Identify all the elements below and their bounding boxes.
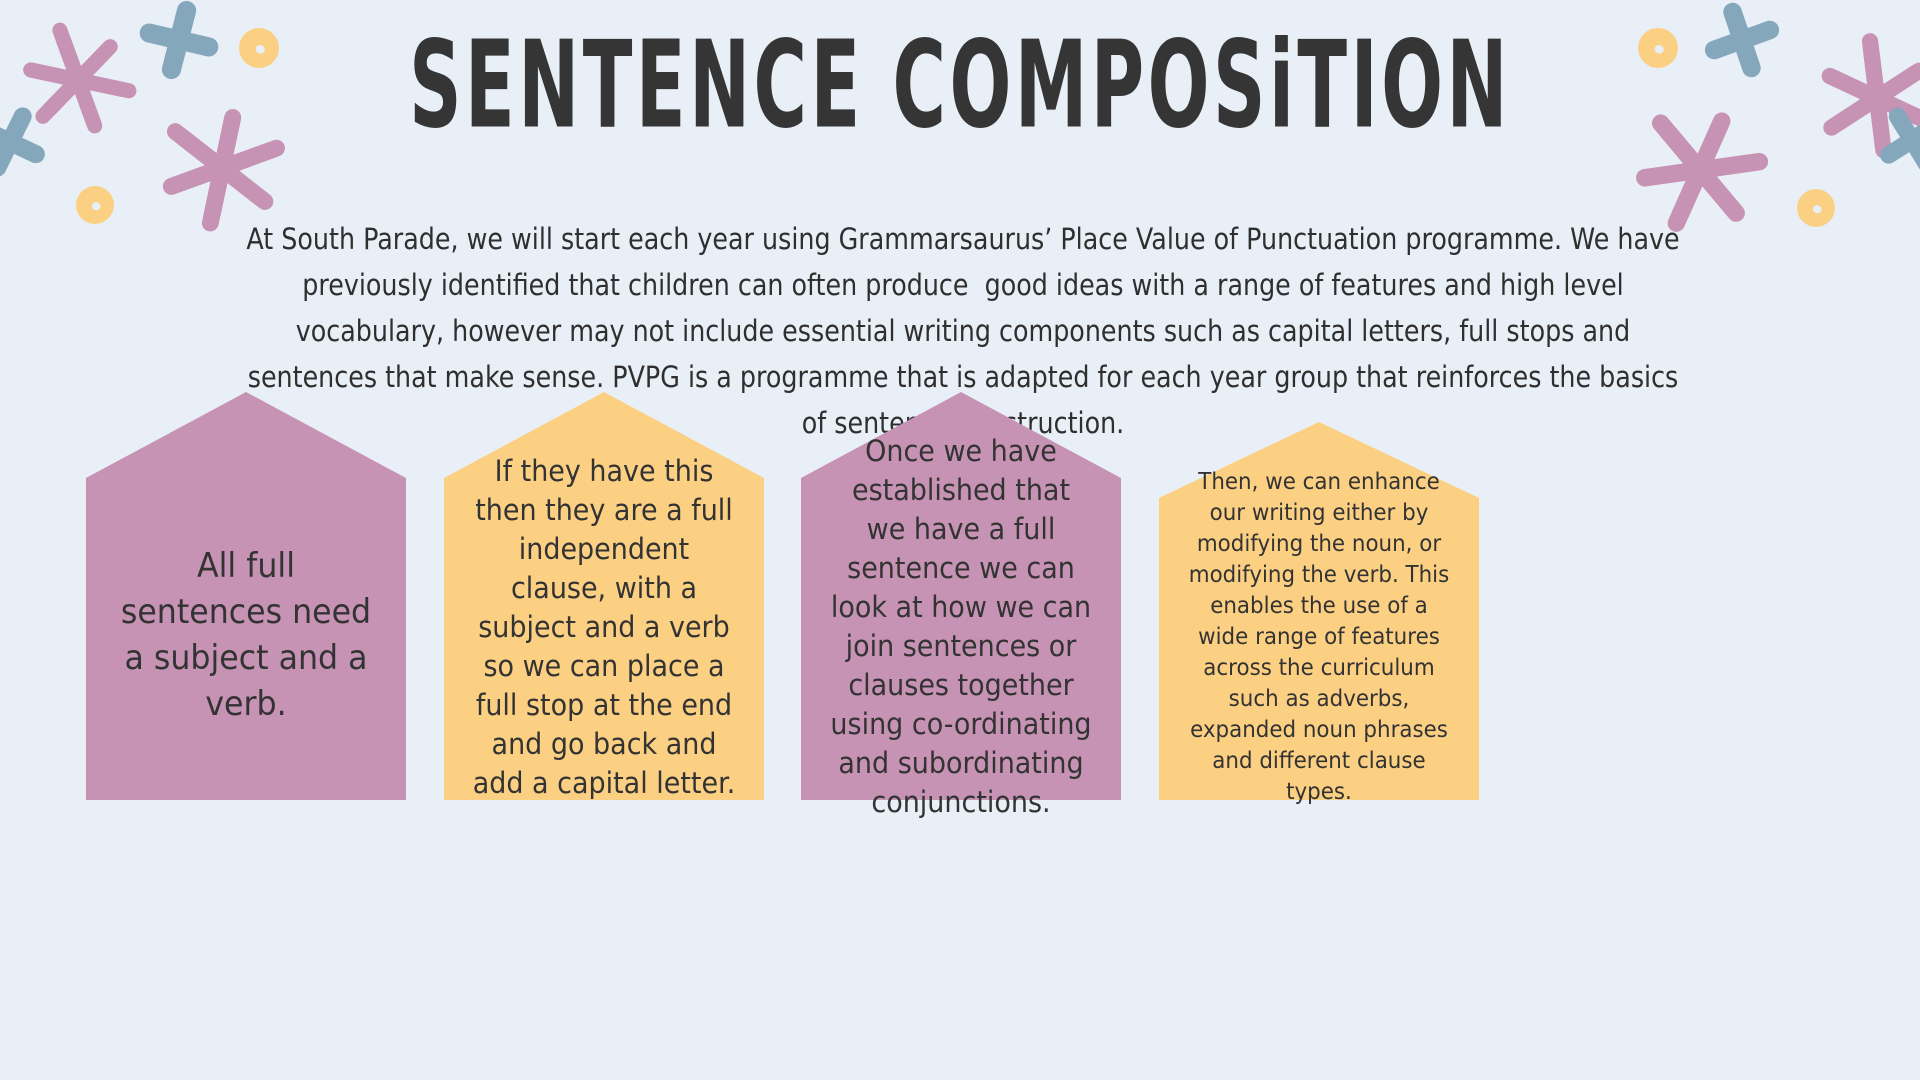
page-title: SENTENCE COMPOSiTION bbox=[409, 22, 1511, 149]
house-card-4: Then, we can enhance our writing either … bbox=[1159, 422, 1479, 800]
house-card-text-1: All full sentences need a subject and a … bbox=[114, 543, 378, 727]
donut-ring-12 bbox=[1797, 189, 1835, 227]
title-container: SENTENCE COMPOSiTION bbox=[0, 22, 1920, 131]
house-card-2: If they have this then they are a full i… bbox=[444, 392, 764, 800]
slide-canvas: SENTENCE COMPOSiTION At South Parade, we… bbox=[0, 0, 1920, 1080]
house-card-text-2: If they have this then they are a full i… bbox=[472, 452, 736, 803]
house-card-text-4: Then, we can enhance our writing either … bbox=[1187, 467, 1451, 808]
house-card-3: Once we have established that we have a … bbox=[801, 392, 1121, 800]
house-cards-row: All full sentences need a subject and a … bbox=[0, 478, 1920, 978]
donut-ring-10 bbox=[76, 186, 114, 224]
house-card-1: All full sentences need a subject and a … bbox=[86, 392, 406, 800]
house-card-text-3: Once we have established that we have a … bbox=[829, 432, 1093, 822]
